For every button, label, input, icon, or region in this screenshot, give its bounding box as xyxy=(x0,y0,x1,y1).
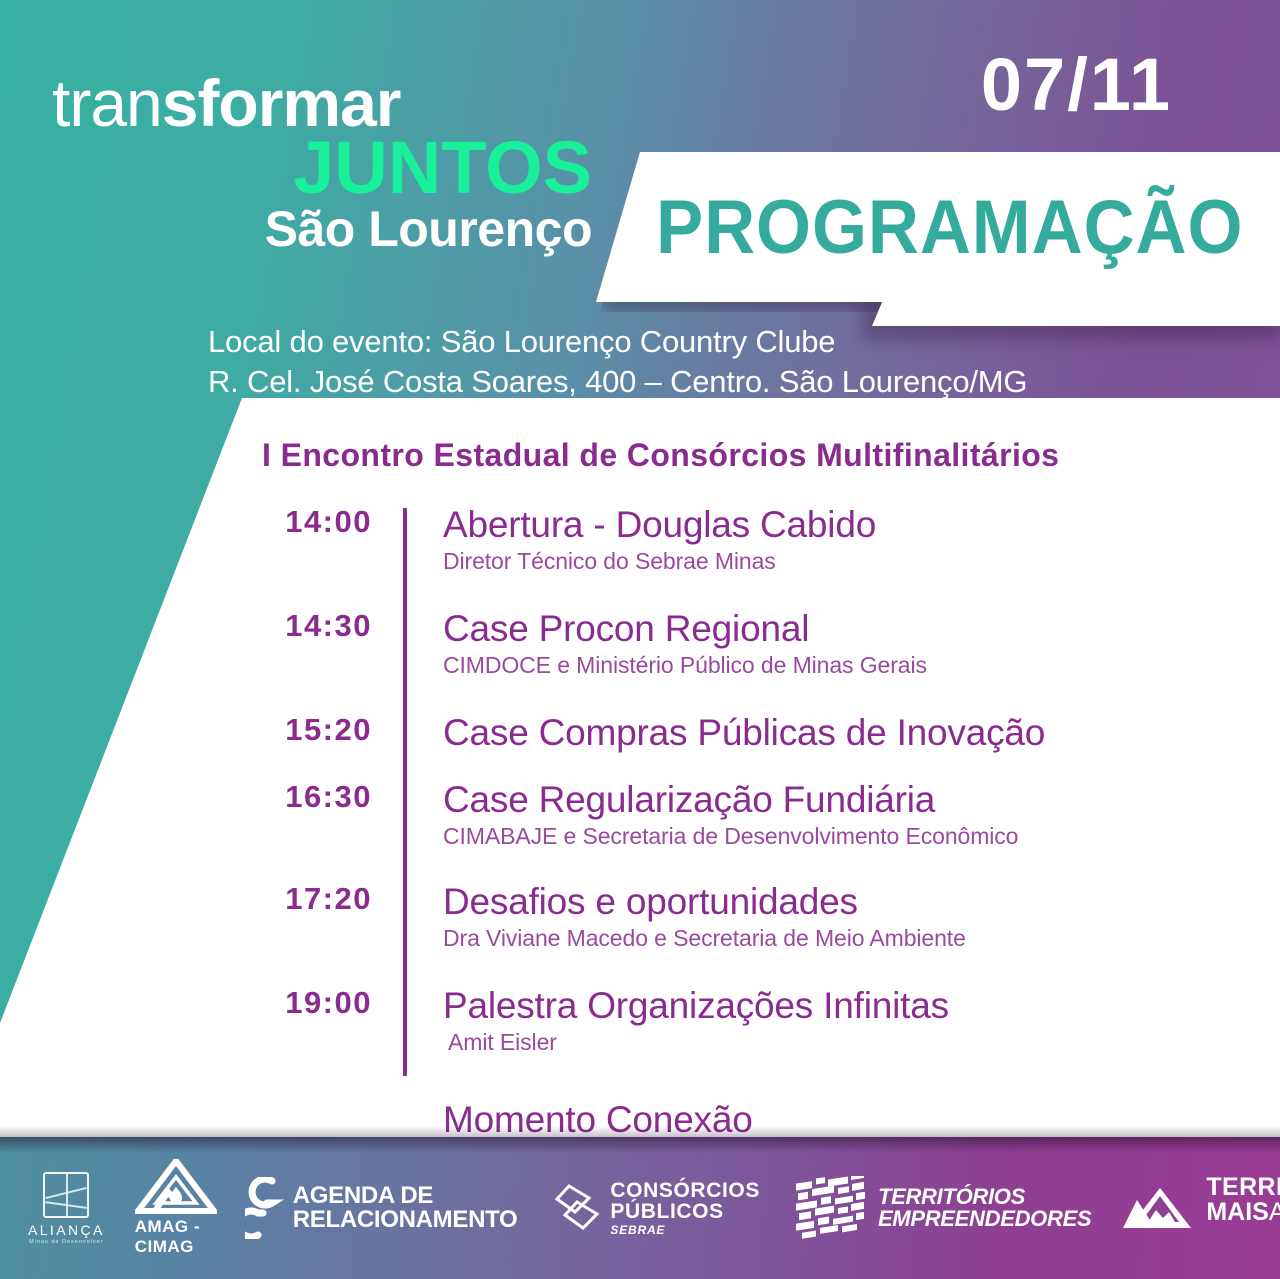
venue-line-1: Local do evento: São Lourenço Country Cl… xyxy=(208,322,1027,362)
schedule-row-body: Desafios e oportunidades Dra Viviane Mac… xyxy=(405,881,1280,953)
logo-territorios-empreendedores: TERRITÓRIOS EMPREENDEDORES xyxy=(794,1176,1091,1240)
logo-alianca-tagline: Minas de Desenvolver xyxy=(29,1239,103,1245)
brand-line-city: São Lourenço xyxy=(52,203,592,256)
schedule-row-time: 19:00 xyxy=(0,985,405,1021)
schedule-row-body: Case Compras Públicas de Inovação xyxy=(405,712,1280,756)
logo-consorcios-text: CONSÓRCIOS PÚBLICOS SEBRAE xyxy=(610,1180,760,1236)
schedule-row-time: 14:00 xyxy=(0,504,405,540)
schedule-row-body: Case Regularização Fundiária CIMABAJE e … xyxy=(405,779,1280,851)
sponsor-logo-strip: ALIANÇA Minas de Desenvolver AMAG - CIMA… xyxy=(0,1159,1280,1257)
schedule-row-body: Case Procon Regional CIMDOCE e Ministéri… xyxy=(405,608,1280,680)
schedule-row-body: Palestra Organizações Infinitas Amit Eis… xyxy=(405,985,1280,1057)
schedule-row: 19:00 Palestra Organizações Infinitas Am… xyxy=(0,985,1280,1057)
schedule-row: 15:20 Case Compras Públicas de Inovação xyxy=(0,712,1280,756)
schedule-row-title: Case Compras Públicas de Inovação xyxy=(443,712,1280,753)
schedule-row-title: Case Procon Regional xyxy=(443,608,1280,649)
logo-agenda-line-2: RELACIONAMENTO xyxy=(293,1208,518,1232)
schedule-row-title: Abertura - Douglas Cabido xyxy=(443,504,1280,545)
schedule-row: 17:20 Desafios e oportunidades Dra Vivia… xyxy=(0,881,1280,953)
chain-link-icon xyxy=(245,1177,285,1239)
logo-consorcios-line-2: PÚBLICOS xyxy=(610,1201,760,1222)
program-title: I Encontro Estadual de Consórcios Multif… xyxy=(262,437,1059,474)
schedule-list: 14:00 Abertura - Douglas Cabido Diretor … xyxy=(0,500,1280,1171)
schedule-row-subtitle: CIMABAJE e Secretaria de Desenvolvimento… xyxy=(443,823,1280,851)
programacao-banner: PROGRAMAÇÃO xyxy=(596,152,1280,302)
stacked-diamonds-icon xyxy=(553,1182,601,1234)
programacao-label: PROGRAMAÇÃO xyxy=(656,184,1243,271)
logo-alianca: ALIANÇA Minas de Desenvolver xyxy=(28,1172,105,1245)
schedule-row: 14:00 Abertura - Douglas Cabido Diretor … xyxy=(0,504,1280,576)
logo-agenda-relacionamento: AGENDA DE RELACIONAMENTO xyxy=(245,1177,518,1239)
logo-consorcios-line-1: CONSÓRCIOS xyxy=(610,1180,760,1201)
logo-alianca-name: ALIANÇA xyxy=(28,1222,105,1238)
logo-agenda-text: AGENDA DE RELACIONAMENTO xyxy=(293,1184,518,1231)
logo-territorios-atrativos-text: TERRITÓRIOS MAISATRATIVOS SEBRAE xyxy=(1206,1175,1280,1242)
brand-transformar-thin: tran xyxy=(52,66,162,140)
mountain-triangle-icon xyxy=(135,1159,217,1215)
logo-terat-line-2: MAISATRATIVOS xyxy=(1206,1200,1280,1225)
schedule-row-body: Abertura - Douglas Cabido Diretor Técnic… xyxy=(405,504,1280,576)
logo-terat-line-1: TERRITÓRIOS xyxy=(1206,1175,1280,1200)
logo-terat-line-3: SEBRAE xyxy=(1206,1227,1280,1242)
logo-terat-mais: MAIS xyxy=(1206,1198,1269,1226)
logo-consorcios-publicos: CONSÓRCIOS PÚBLICOS SEBRAE xyxy=(553,1180,760,1236)
sponsor-footer: ALIANÇA Minas de Desenvolver AMAG - CIMA… xyxy=(0,1137,1280,1279)
event-program-poster: transformar JUNTOS São Lourenço 07/11 PR… xyxy=(0,0,1280,1279)
schedule-row-subtitle: Diretor Técnico do Sebrae Minas xyxy=(443,548,1280,576)
logo-terat-atrativos: ATRATIVOS xyxy=(1269,1198,1280,1226)
logo-consorcios-line-3: SEBRAE xyxy=(610,1224,760,1236)
mountains-icon xyxy=(1123,1184,1197,1232)
schedule-row: 14:30 Case Procon Regional CIMDOCE e Min… xyxy=(0,608,1280,680)
schedule-row-time: 14:30 xyxy=(0,608,405,644)
logo-terremp-line-1: TERRITÓRIOS xyxy=(878,1186,1091,1208)
schedule-row-time: 15:20 xyxy=(0,712,405,748)
pixel-map-icon xyxy=(794,1176,868,1240)
schedule-row-title: Desafios e oportunidades xyxy=(443,881,1280,922)
schedule-row-time: 16:30 xyxy=(0,779,405,815)
schedule-row-subtitle: CIMDOCE e Ministério Público de Minas Ge… xyxy=(443,652,1280,680)
schedule-row-title: Case Regularização Fundiária xyxy=(443,779,1280,820)
logo-terremp-line-2: EMPREENDEDORES xyxy=(878,1208,1091,1230)
brand-logo: transformar JUNTOS São Lourenço xyxy=(52,72,592,255)
venue-line-2: R. Cel. José Costa Soares, 400 – Centro.… xyxy=(208,362,1027,402)
logo-amag-name: AMAG - CIMAG xyxy=(135,1217,217,1257)
venue-info: Local do evento: São Lourenço Country Cl… xyxy=(208,322,1027,401)
logo-agenda-line-1: AGENDA DE xyxy=(293,1184,518,1208)
schedule-row-time: 17:20 xyxy=(0,881,405,917)
schedule-row-subtitle: Amit Eisler xyxy=(443,1029,1280,1057)
logo-territorios-atrativos: TERRITÓRIOS MAISATRATIVOS SEBRAE xyxy=(1123,1175,1280,1242)
window-frame-icon xyxy=(43,1172,89,1218)
event-date: 07/11 xyxy=(981,42,1172,127)
schedule-row: 16:30 Case Regularização Fundiária CIMAB… xyxy=(0,779,1280,851)
schedule-row-subtitle: Dra Viviane Macedo e Secretaria de Meio … xyxy=(443,925,1280,953)
logo-amag-cimag: AMAG - CIMAG xyxy=(135,1159,217,1257)
schedule-row-title: Palestra Organizações Infinitas xyxy=(443,985,1280,1026)
brand-line-juntos: JUNTOS xyxy=(52,131,592,205)
logo-territorios-empreendedores-text: TERRITÓRIOS EMPREENDEDORES xyxy=(878,1186,1091,1230)
